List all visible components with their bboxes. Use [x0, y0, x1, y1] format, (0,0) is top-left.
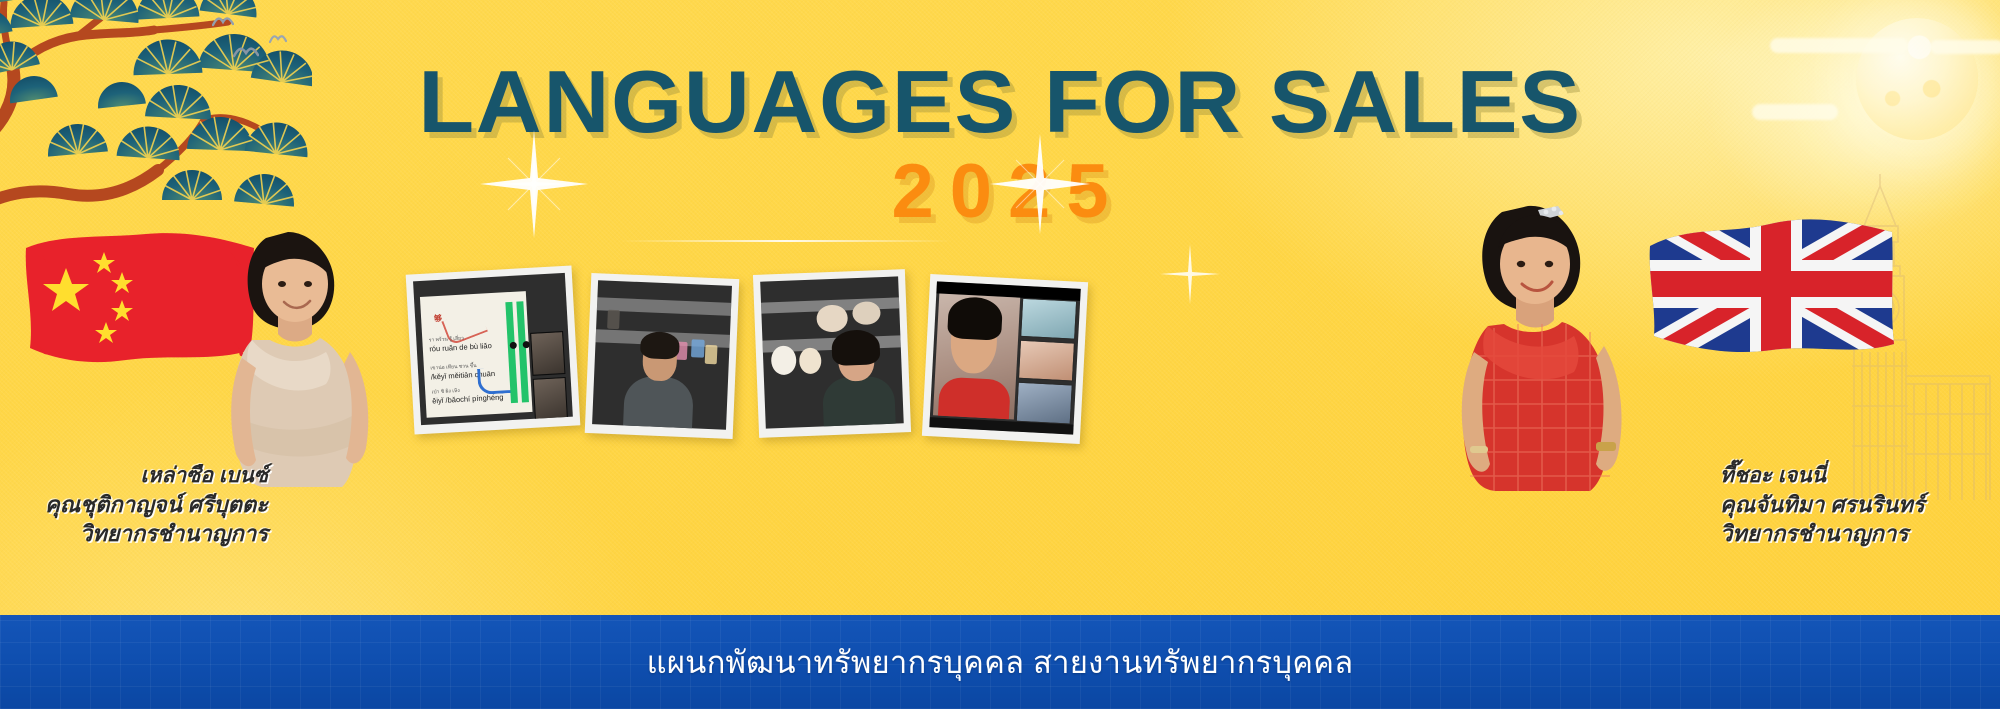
polaroid-photo-store-female-staff — [753, 269, 911, 438]
meeting-participant-tile — [1018, 340, 1075, 382]
staff-hair — [640, 332, 680, 360]
store-goods — [607, 309, 620, 328]
presenter-caption-right: ที๊ชอะ เจนนี่ คุณจันทิมา ศรนรินทร์ วิทยา… — [1720, 462, 1988, 548]
footer-department-text: แผนกพัฒนาทรัพยากรบุคคล สายงานทรัพยากรบุค… — [647, 637, 1354, 687]
photo-chinese-lesson: 够 รา พร้วน รู้ เสี่ยว róu ruǎn de bù liǎ… — [413, 273, 573, 425]
store-goods — [771, 345, 797, 375]
photo-online-class — [929, 281, 1080, 434]
presenter-fullname-right: คุณจันทิมา ศรนรินทร์ — [1720, 490, 1988, 519]
photo-store-female-staff — [760, 276, 904, 428]
banner-root: LANGUAGES FOR SALES 2025 — [0, 0, 2000, 709]
presenter-photo-left — [200, 222, 410, 487]
participant-thumbnail — [530, 331, 566, 376]
cloud-icon — [1930, 40, 2000, 54]
presenter-role-right: วิทยากรชำนาญการ — [1720, 519, 1988, 548]
meeting-participant-tile — [1021, 298, 1078, 340]
presenter-nickname-right: ที๊ชอะ เจนนี่ — [1720, 462, 1988, 490]
staff-figure — [820, 335, 895, 426]
bird-icon — [212, 16, 234, 28]
polaroid-photo-online-class — [922, 274, 1088, 444]
title-divider — [620, 240, 952, 242]
presenter-role-left: วิทยากรชำนาญการ — [18, 519, 268, 548]
meeting-participant-tile — [1016, 382, 1073, 424]
blue-curve-mark — [477, 367, 512, 395]
photo-collage: 够 รา พร้วน รู้ เสี่ยว róu ruǎn de bù liǎ… — [408, 256, 1108, 456]
presenter-nickname-left: เหล่าซือ เบนซ์ — [18, 462, 268, 490]
lesson-line-a: รา พร้วน รู้ เสี่ยว róu ruǎn de bù liǎo — [429, 333, 492, 353]
staff-uniform — [623, 375, 695, 429]
participant-thumbnail — [533, 377, 569, 422]
uk-flag-icon — [1646, 198, 1908, 368]
store-goods — [705, 345, 718, 364]
polaroid-photo-store-male-staff — [585, 273, 740, 439]
staff-uniform — [822, 376, 896, 428]
presenter-photo-right — [1430, 196, 1655, 491]
polaroid-photo-chinese-lesson: 够 รา พร้วน รู้ เสี่ยว róu ruǎn de bù liǎ… — [406, 265, 581, 434]
participant-hair — [947, 296, 1004, 340]
participant-torso — [938, 377, 1011, 420]
footer-bar: แผนกพัฒนาทรัพยากรบุคคล สายงานทรัพยากรบุค… — [0, 615, 2000, 709]
photo-store-male-staff — [592, 280, 732, 429]
store-goods — [799, 347, 822, 374]
store-goods — [852, 301, 880, 326]
page-title: LANGUAGES FOR SALES — [0, 58, 2000, 146]
meeting-main-tile — [933, 293, 1020, 420]
bird-icon — [269, 34, 287, 44]
store-goods — [816, 305, 847, 333]
cloud-icon — [1770, 38, 1908, 53]
staff-figure — [622, 336, 698, 428]
year-label: 2025 — [875, 148, 1124, 235]
staff-hair — [832, 329, 881, 366]
presenter-caption-left: เหล่าซือ เบนซ์ คุณชุติกาญจน์ ศรีบุตตะ วิ… — [18, 462, 268, 548]
presenter-fullname-left: คุณชุติกาญจน์ ศรีบุตตะ — [18, 490, 268, 519]
